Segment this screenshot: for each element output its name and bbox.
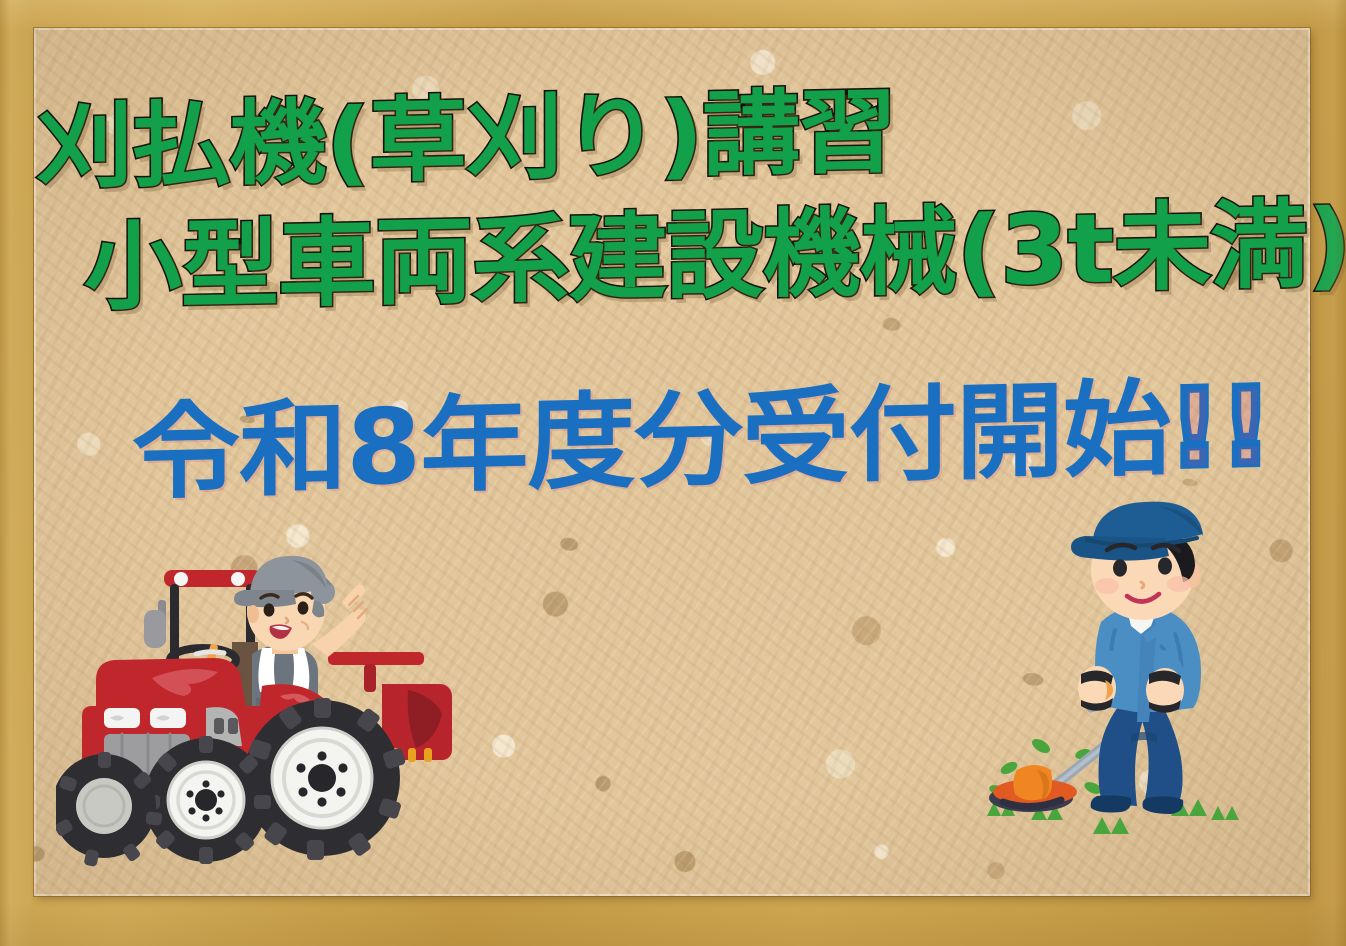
announcement-exclamation: !!: [1170, 365, 1273, 489]
tractor-with-farmer-illustration: [56, 548, 466, 888]
poster-frame: 刈払機(草刈り)講習 小型車両系建設機械(3t未満)講習 令和8年度分受付開始!…: [0, 0, 1346, 946]
announcement-text: 令和8年度分受付開始: [132, 368, 1170, 514]
announcement-banner: 令和8年度分受付開始!!: [132, 341, 1273, 519]
brush-cutter-worker-illustration: [975, 498, 1265, 860]
heading-small-construction-machinery-course: 小型車両系建設機械(3t未満)講習: [84, 163, 1346, 329]
